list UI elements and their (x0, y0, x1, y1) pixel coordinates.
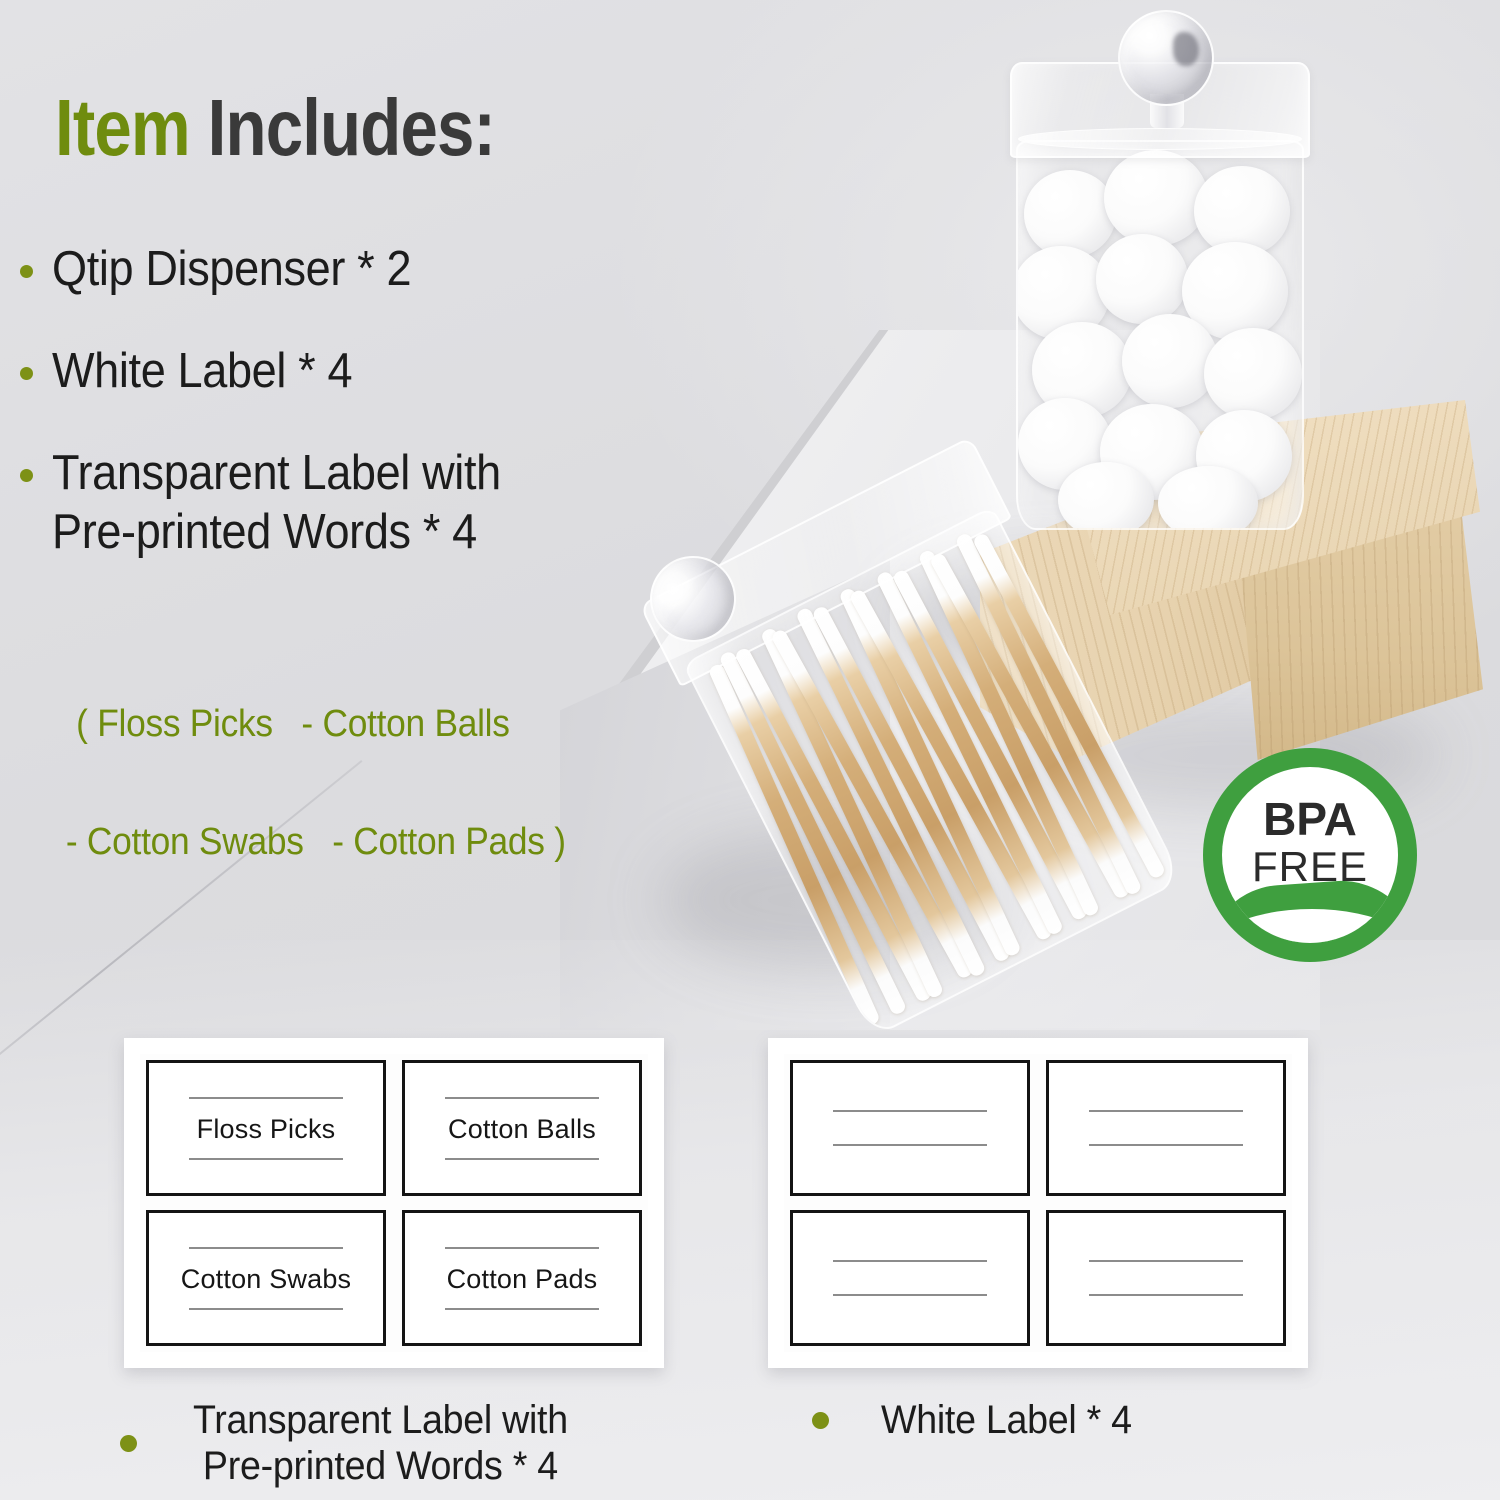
badge-inner-circle: BPA FREE (1222, 767, 1398, 943)
bullet-dot-icon (20, 265, 33, 278)
white-label-sheet (768, 1038, 1308, 1368)
preprinted-words-sublist: ( Floss Picks - Cotton Balls - Cotton Sw… (38, 636, 566, 989)
bullet-dot-icon (20, 469, 33, 482)
label-rule-top (445, 1097, 599, 1099)
transparent-label-caption: Transparent Label with Pre-printed Words… (120, 1398, 580, 1489)
list-item-label: Transparent Label with Pre-printed Words… (52, 444, 501, 564)
jar-body (1016, 140, 1304, 530)
label-card-text: Floss Picks (197, 1101, 336, 1158)
caption-label: White Label * 4 (881, 1398, 1132, 1444)
label-grid (784, 1054, 1292, 1352)
caption-label: Transparent Label with Pre-printed Words… (193, 1398, 568, 1489)
label-rule-top (189, 1097, 343, 1099)
label-card: Cotton Balls (402, 1060, 642, 1196)
bullet-dot-icon (120, 1435, 137, 1452)
label-rule-bottom (445, 1158, 599, 1160)
list-item: White Label * 4 (20, 342, 720, 402)
bullet-dot-icon (812, 1412, 829, 1429)
bpa-free-badge: BPA FREE (1203, 748, 1417, 962)
cotton-balls-group (1018, 142, 1302, 528)
badge-line-1: BPA (1222, 797, 1398, 842)
bullet-dot-icon (20, 367, 33, 380)
list-item: Qtip Dispenser * 2 (20, 240, 720, 300)
label-rule-bottom (833, 1144, 987, 1146)
page-title-green: Item (55, 83, 190, 172)
includes-list: Qtip Dispenser * 2 White Label * 4 Trans… (20, 240, 720, 605)
label-card: Cotton Pads (402, 1210, 642, 1346)
label-rule-top (1089, 1110, 1243, 1112)
white-label-caption: White Label * 4 (812, 1398, 1140, 1444)
page-title: Item Includes: (55, 82, 495, 174)
label-rule-top (1089, 1260, 1243, 1262)
label-rule-bottom (1089, 1294, 1243, 1296)
product-infographic: Item Includes: Qtip Dispenser * 2 White … (0, 0, 1500, 1500)
cotton-ball-jar (1000, 10, 1320, 530)
list-item-label: Qtip Dispenser * 2 (52, 240, 411, 300)
label-card (790, 1210, 1030, 1346)
label-rule-top (833, 1260, 987, 1262)
label-grid: Floss Picks Cotton Balls Cotton Swabs Co… (140, 1054, 648, 1352)
sublist-line-2: - Cotton Swabs - Cotton Pads ) (38, 813, 566, 872)
label-rule-top (445, 1247, 599, 1249)
sublist-line-1: ( Floss Picks - Cotton Balls (76, 703, 509, 745)
label-rule-top (833, 1110, 987, 1112)
label-rule-bottom (445, 1308, 599, 1310)
label-rule-bottom (189, 1158, 343, 1160)
label-rule-bottom (189, 1308, 343, 1310)
label-card (1046, 1210, 1286, 1346)
label-card (790, 1060, 1030, 1196)
label-rule-top (189, 1247, 343, 1249)
list-item: Transparent Label with Pre-printed Words… (20, 444, 720, 564)
label-card: Cotton Swabs (146, 1210, 386, 1346)
label-rule-bottom (833, 1294, 987, 1296)
label-card-text: Cotton Swabs (181, 1251, 352, 1308)
list-item-label: White Label * 4 (52, 342, 352, 402)
transparent-label-sheet: Floss Picks Cotton Balls Cotton Swabs Co… (124, 1038, 664, 1368)
badge-line-2: FREE (1222, 846, 1398, 887)
badge-text: BPA FREE (1222, 797, 1398, 887)
label-card-text: Cotton Pads (447, 1251, 598, 1308)
label-card (1046, 1060, 1286, 1196)
page-title-dark: Includes: (208, 83, 495, 172)
label-card: Floss Picks (146, 1060, 386, 1196)
jar-knob (1118, 10, 1214, 106)
label-card-text: Cotton Balls (448, 1101, 596, 1158)
label-rule-bottom (1089, 1144, 1243, 1146)
